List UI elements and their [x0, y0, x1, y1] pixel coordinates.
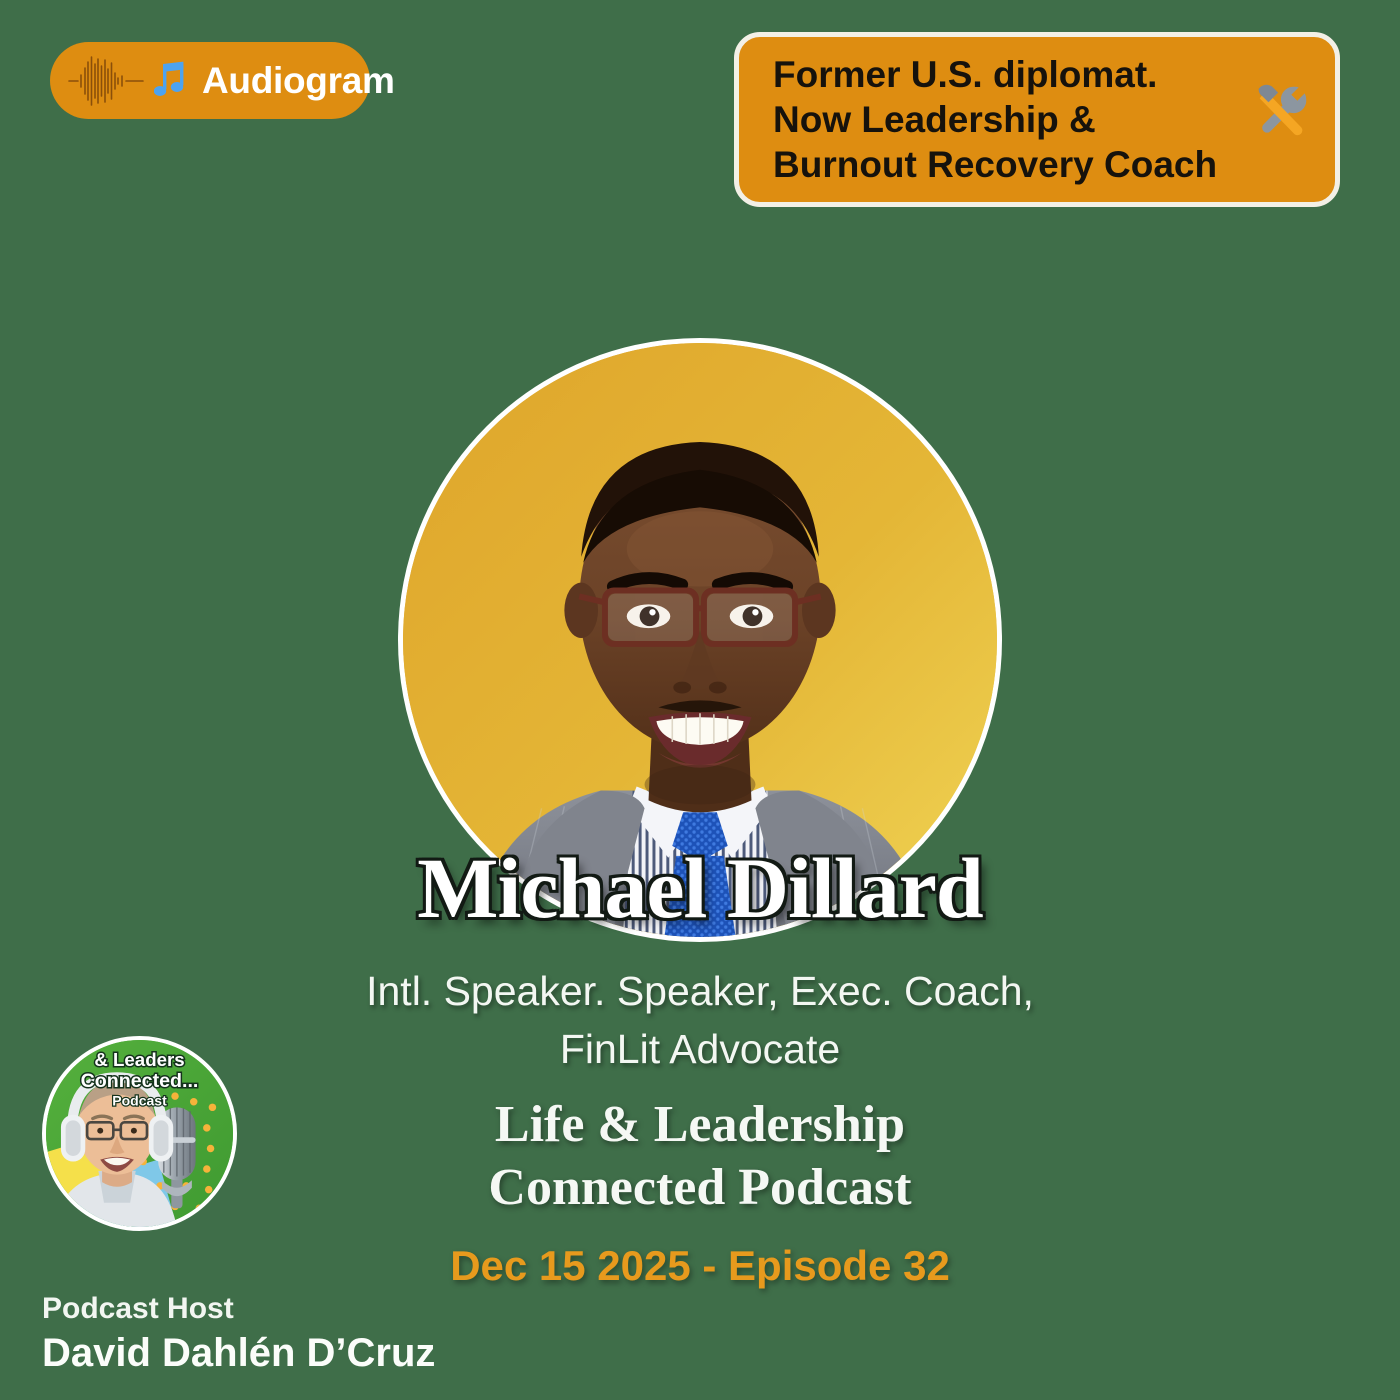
audiogram-label: Audiogram	[202, 60, 395, 102]
audiogram-badge[interactable]: Audiogram	[50, 42, 370, 119]
guest-role: Intl. Speaker. Speaker, Exec. Coach, Fin…	[0, 962, 1400, 1078]
host-avatar-text-line2: Connected...	[81, 1070, 199, 1092]
host-avatar-photo: & Leaders Connected... Podcast	[46, 1040, 233, 1227]
music-note-icon	[154, 61, 188, 101]
host-avatar-text-line1: & Leaders	[94, 1049, 184, 1070]
guest-name: Michael Dillard	[0, 845, 1400, 931]
audio-waveform-icon	[68, 55, 144, 107]
audiogram-poster: Audiogram Former U.S. diplomat. Now Lead…	[0, 0, 1400, 1400]
host-name: David Dahlén D’Cruz	[42, 1331, 435, 1376]
host-avatar-text-line3: Podcast	[112, 1092, 167, 1108]
host-avatar: & Leaders Connected... Podcast	[42, 1036, 237, 1231]
hammer-and-wrench-icon	[1251, 79, 1313, 141]
host-role-label: Podcast Host	[42, 1292, 234, 1326]
tagline-badge: Former U.S. diplomat. Now Leadership & B…	[734, 32, 1340, 207]
tagline-text: Former U.S. diplomat. Now Leadership & B…	[739, 52, 1217, 187]
episode-line: Dec 15 2025 - Episode 32	[0, 1242, 1400, 1290]
